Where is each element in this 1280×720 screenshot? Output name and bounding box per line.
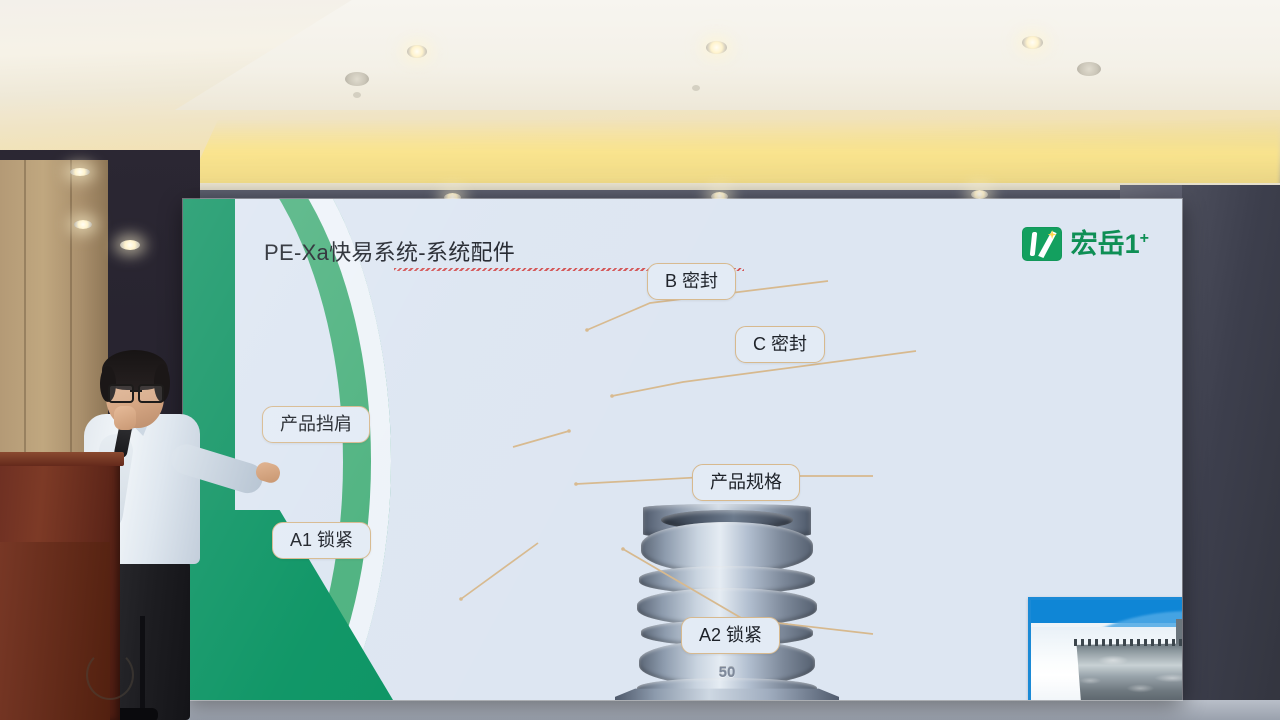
brand-logo-text: 宏岳1+ bbox=[1071, 231, 1149, 258]
downlight-icon bbox=[120, 240, 140, 250]
callout-product-shoulder[interactable]: 产品挡肩 bbox=[262, 406, 370, 443]
pex-fitting-photo: 50 PPSU 1 50 2 bbox=[615, 504, 839, 700]
callout-a1-lock[interactable]: A1 锁紧 bbox=[272, 522, 371, 559]
downlight-icon bbox=[70, 168, 90, 176]
downlight-icon bbox=[1022, 36, 1043, 49]
smoke-detector-icon bbox=[353, 92, 361, 98]
callout-a2-lock[interactable]: A2 锁紧 bbox=[681, 617, 780, 654]
brand-logo-name: 宏岳1 bbox=[1071, 229, 1140, 259]
ceiling-speaker-icon bbox=[345, 72, 369, 86]
mic-stand bbox=[86, 650, 134, 700]
hex-flange bbox=[615, 688, 839, 700]
fitting-cross-section-photo bbox=[1028, 597, 1182, 700]
glasses-icon bbox=[108, 384, 164, 399]
callout-c-seal[interactable]: C 密封 bbox=[735, 326, 825, 363]
ceiling-speaker-icon bbox=[1077, 62, 1101, 76]
brand-logo-plus: + bbox=[1140, 230, 1149, 247]
projection-slide: PE-Xa快易系统-系统配件 宏岳1+ 50 PPSU 1 5 bbox=[183, 199, 1182, 700]
downlight-icon bbox=[407, 45, 427, 58]
ceiling-inner-panel bbox=[175, 0, 1280, 110]
brand-logo: 宏岳1+ bbox=[1022, 227, 1149, 261]
cove-light-glow bbox=[185, 120, 1280, 192]
hongyue-logo-mark-icon bbox=[1022, 227, 1062, 261]
downlight-icon bbox=[971, 190, 988, 199]
presentation-photo-scene: PE-Xa快易系统-系统配件 宏岳1+ 50 PPSU 1 5 bbox=[0, 0, 1280, 720]
smoke-detector-icon bbox=[692, 85, 700, 91]
callout-product-spec[interactable]: 产品规格 bbox=[692, 464, 800, 501]
callout-b-seal[interactable]: B 密封 bbox=[647, 263, 736, 300]
podium-top-surface bbox=[0, 452, 124, 466]
right-wall-far bbox=[1182, 185, 1280, 720]
downlight-icon bbox=[74, 220, 92, 229]
downlight-icon bbox=[706, 41, 727, 54]
